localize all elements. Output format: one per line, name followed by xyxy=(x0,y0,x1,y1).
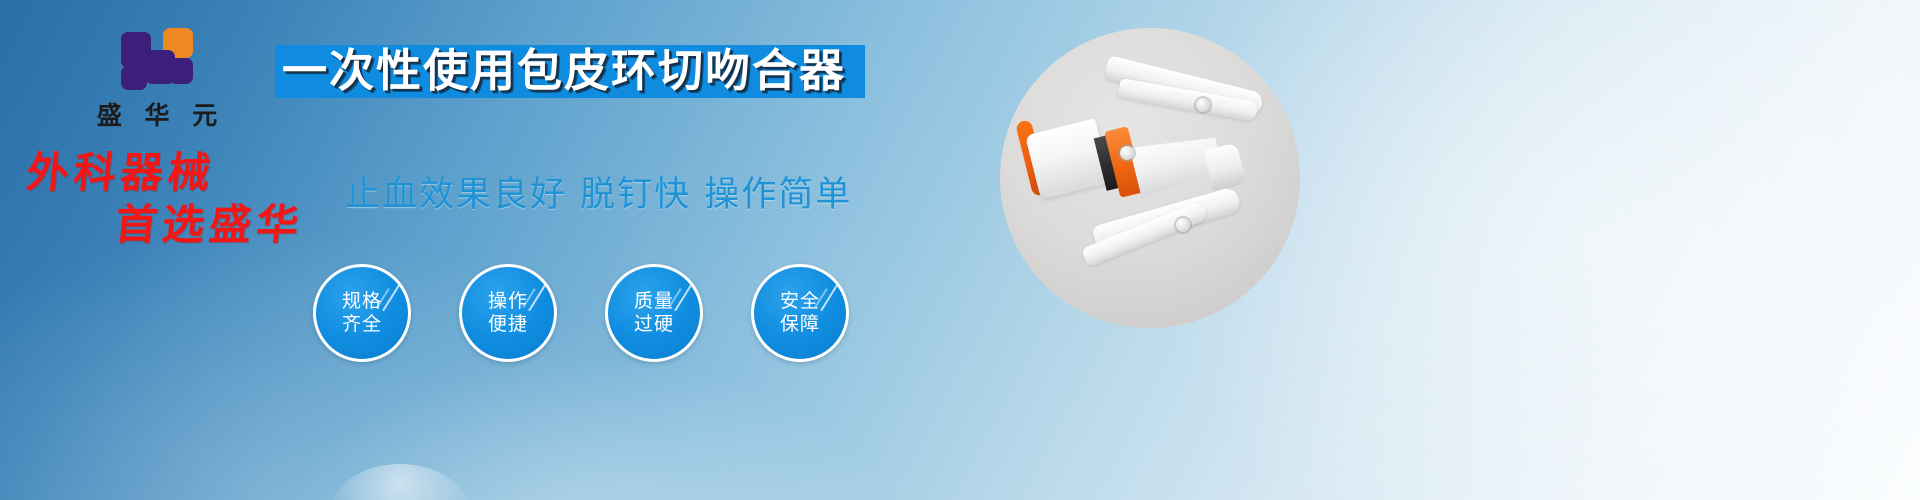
feature-badge-line-2: 齐全 xyxy=(342,313,382,336)
device-pivot-upper xyxy=(1196,98,1210,112)
feature-badge-quality[interactable]: 质量 过硬 xyxy=(605,264,703,362)
feature-badge-safety[interactable]: 安全 保障 xyxy=(751,264,849,362)
device-pivot-center xyxy=(1120,146,1134,160)
badge-slash-icon xyxy=(528,285,546,312)
brand-name: 盛 华 元 xyxy=(62,96,252,132)
device-tip xyxy=(1203,143,1246,192)
feature-badge-line-1: 质量 xyxy=(634,290,674,313)
subtitle: 止血效果良好 脱钉快 操作简单 xyxy=(345,166,852,217)
badge-slash-icon xyxy=(674,285,692,312)
badge-slash-icon xyxy=(382,285,400,312)
slogan-line-2: 首选盛华 xyxy=(13,204,347,246)
device-pivot-lower xyxy=(1176,218,1190,232)
feature-badge-line-2: 过硬 xyxy=(634,313,674,336)
feature-badge-line-2: 便捷 xyxy=(488,313,528,336)
page-title: 一次性使用包皮环切吻合器 xyxy=(282,42,882,100)
feature-badge-specifications[interactable]: 规格 齐全 xyxy=(313,264,411,362)
promotional-banner: 盛 华 元 外科器械 首选盛华 一次性使用包皮环切吻合器 止血效果良好 脱钉快 … xyxy=(0,0,1920,500)
logo-blocks-icon xyxy=(121,28,193,90)
feature-badge-operation[interactable]: 操作 便捷 xyxy=(459,264,557,362)
calligraphy-slogan: 外科器械 首选盛华 xyxy=(13,152,353,246)
brand-logo[interactable]: 盛 华 元 xyxy=(62,28,252,132)
logo-square-bottom-right xyxy=(169,58,193,84)
feature-badge-line-1: 安全 xyxy=(780,290,820,313)
bottom-decorative-arc xyxy=(330,464,470,500)
stapler-device-illustration xyxy=(1000,28,1300,328)
feature-badge-line-1: 操作 xyxy=(488,290,528,313)
product-image xyxy=(1000,28,1300,328)
badge-slash-icon xyxy=(820,285,838,312)
feature-badge-list: 规格 齐全 操作 便捷 质量 过硬 安全 保障 xyxy=(313,264,849,362)
feature-badge-line-2: 保障 xyxy=(780,313,820,336)
feature-badge-line-1: 规格 xyxy=(342,290,382,313)
logo-square-bottom-left xyxy=(121,66,147,90)
slogan-line-1: 外科器械 xyxy=(19,152,353,194)
